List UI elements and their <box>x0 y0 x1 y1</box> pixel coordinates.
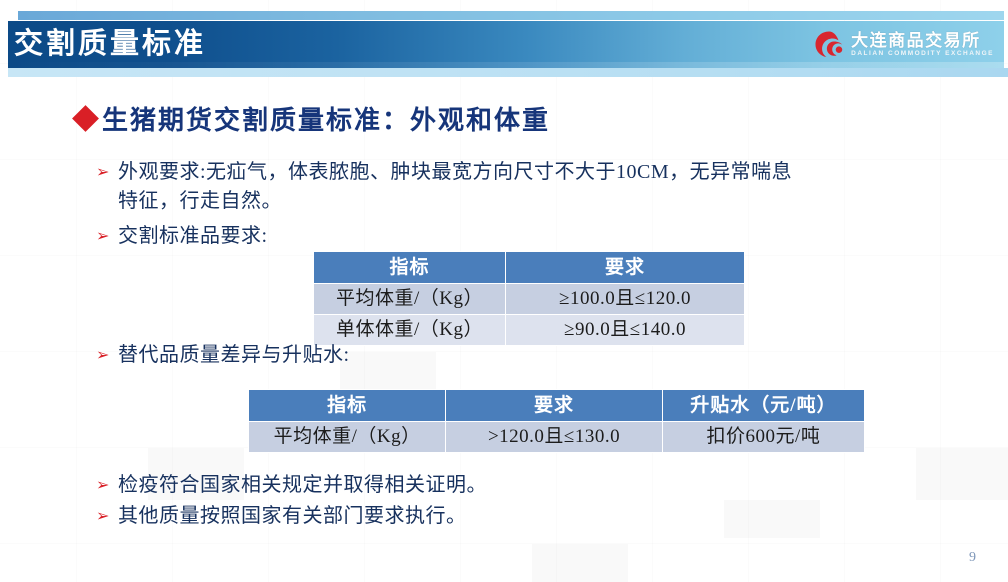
bullet-text: 检疫符合国家相关规定并取得相关证明。 <box>118 471 487 500</box>
page-number: 9 <box>969 550 976 566</box>
substitute-premium-table: 指标 要求 升贴水（元/吨） 平均体重/（Kg） >120.0且≤130.0 扣… <box>248 389 865 453</box>
bullet-appearance-requirement: ➢ 外观要求:无疝气，体表脓胞、肿块最宽方向尺寸不大于10CM，无异常喘息 特征… <box>96 158 986 216</box>
arrow-bullet-icon: ➢ <box>96 341 118 368</box>
diamond-bullet-icon <box>72 105 99 132</box>
section-heading: 生猪期货交割质量标准：外观和体重 <box>76 100 550 137</box>
cell-indicator: 平均体重/（Kg） <box>249 422 446 453</box>
table-header-row: 指标 要求 升贴水（元/吨） <box>249 390 865 422</box>
cell-indicator: 平均体重/（Kg） <box>314 284 506 315</box>
slide-header: 交割质量标准 大连商品交易所 DALIAN COMMODITY EXCHANGE <box>0 0 1008 86</box>
cell-requirement: >120.0且≤130.0 <box>446 422 663 453</box>
column-header-requirement: 要求 <box>506 252 745 284</box>
column-header-premium-discount: 升贴水（元/吨） <box>662 390 864 422</box>
bullet-other-quality-requirement: ➢ 其他质量按照国家有关部门要求执行。 <box>96 502 696 531</box>
header-bottom-strip <box>8 68 1008 77</box>
bullet-standard-product-requirement: ➢ 交割标准品要求: <box>96 222 496 251</box>
bullet-substitute-quality-premium: ➢ 替代品质量差异与升贴水: <box>96 341 596 370</box>
table-header-row: 指标 要求 <box>314 252 745 284</box>
slide-content: 生猪期货交割质量标准：外观和体重 ➢ 外观要求:无疝气，体表脓胞、肿块最宽方向尺… <box>0 86 1008 582</box>
table-row: 平均体重/（Kg） >120.0且≤130.0 扣价600元/吨 <box>249 422 865 453</box>
dce-swirl-logo-icon <box>814 30 844 60</box>
arrow-bullet-icon: ➢ <box>96 502 118 529</box>
logo-text-block: 大连商品交易所 DALIAN COMMODITY EXCHANGE <box>851 32 994 58</box>
cell-requirement: ≥100.0且≤120.0 <box>506 284 745 315</box>
column-header-indicator: 指标 <box>249 390 446 422</box>
arrow-bullet-icon: ➢ <box>96 471 118 498</box>
column-header-indicator: 指标 <box>314 252 506 284</box>
arrow-bullet-icon: ➢ <box>96 222 118 249</box>
page-title: 交割质量标准 <box>14 21 206 68</box>
slide-canvas: 交割质量标准 大连商品交易所 DALIAN COMMODITY EXCHANGE… <box>0 0 1008 582</box>
bullet-quarantine-requirement: ➢ 检疫符合国家相关规定并取得相关证明。 <box>96 471 696 500</box>
header-top-strip <box>18 11 1004 20</box>
standard-product-table: 指标 要求 平均体重/（Kg） ≥100.0且≤120.0 单体体重/（Kg） … <box>313 251 745 346</box>
bullet-text: 交割标准品要求: <box>118 222 268 251</box>
bullet-text: 其他质量按照国家有关部门要求执行。 <box>118 502 467 531</box>
column-header-requirement: 要求 <box>446 390 663 422</box>
cell-premium-discount: 扣价600元/吨 <box>662 422 864 453</box>
dce-logo: 大连商品交易所 DALIAN COMMODITY EXCHANGE <box>814 28 994 61</box>
arrow-bullet-icon: ➢ <box>96 158 118 185</box>
bullet-text: 外观要求:无疝气，体表脓胞、肿块最宽方向尺寸不大于10CM，无异常喘息 特征，行… <box>118 158 792 216</box>
table-row: 平均体重/（Kg） ≥100.0且≤120.0 <box>314 284 745 315</box>
bullet-text: 替代品质量差异与升贴水: <box>118 341 350 370</box>
section-heading-text: 生猪期货交割质量标准：外观和体重 <box>102 100 550 137</box>
logo-chinese-name: 大连商品交易所 <box>851 32 994 49</box>
logo-english-name: DALIAN COMMODITY EXCHANGE <box>851 51 994 58</box>
